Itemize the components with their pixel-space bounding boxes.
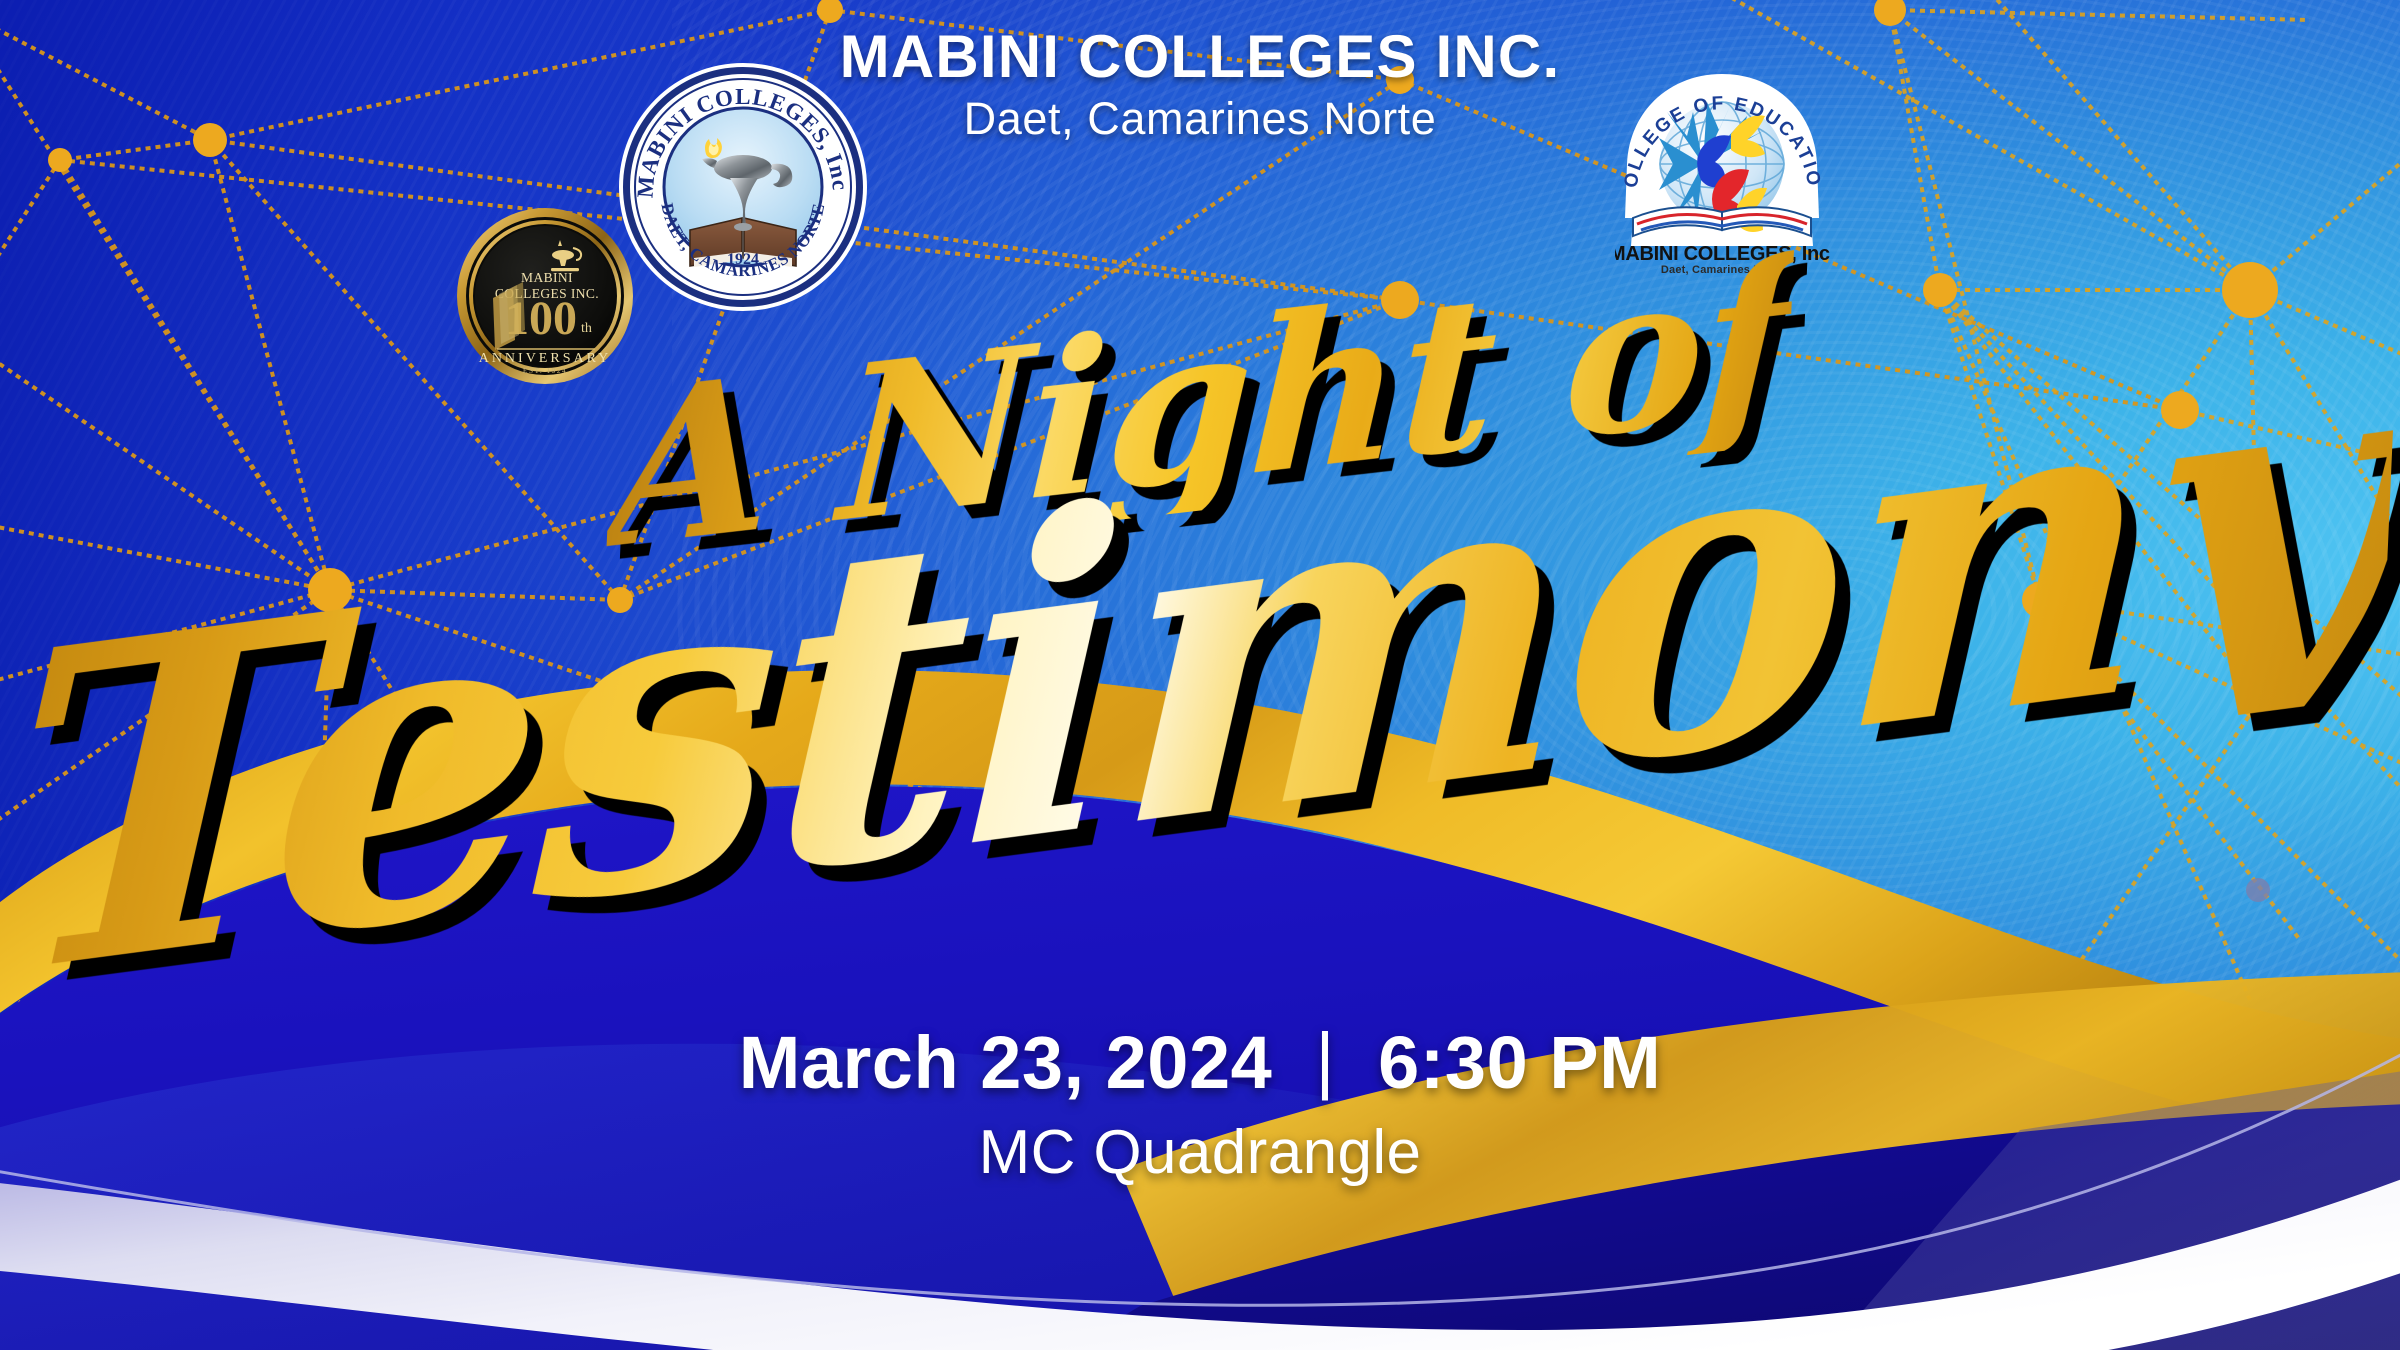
header-text-block: MABINI COLLEGES INC. Daet, Camarines Nor… [840,26,1561,145]
event-date: March 23, 2024 [739,1021,1273,1104]
medallion-ordinal: th [581,321,592,336]
bottom-wave-graphics [0,570,2400,1350]
event-poster: MABINI COLLEGES INC. 100 th ANNIVERSARY … [0,0,2400,1350]
event-venue: MC Quadrangle [0,1117,2400,1188]
header-row: MABINI COLLEGES INC. 100 th ANNIVERSARY … [0,26,2400,145]
medallion-anniversary-label: ANNIVERSARY [479,351,612,366]
page-title: MABINI COLLEGES INC. [840,26,1561,87]
event-datetime-row: March 23, 2024 | 6:30 PM [0,1020,2400,1105]
medallion-line-1: MABINI [521,270,573,285]
event-details-block: March 23, 2024 | 6:30 PM MC Quadrangle [0,1020,2400,1188]
event-time: 6:30 PM [1378,1021,1661,1104]
college-of-education-logo: COLLEGE OF EDUCATION MABINI COLLEGES, In… [1615,68,1830,288]
anniversary-medallion: MABINI COLLEGES INC. 100 th ANNIVERSARY … [455,206,635,391]
page-subtitle: Daet, Camarines Norte [840,93,1561,145]
detail-separator: | [1293,1018,1357,1101]
mabini-colleges-seal: 1924 MABINI COLLEGES, Inc. DAET, CAMARIN… [618,62,868,317]
medallion-established: EST. 1924 [523,366,567,375]
coe-line-1: MABINI COLLEGES, Inc. [1615,243,1830,265]
coe-line-2: Daet, Camarines Norte [1661,264,1783,276]
